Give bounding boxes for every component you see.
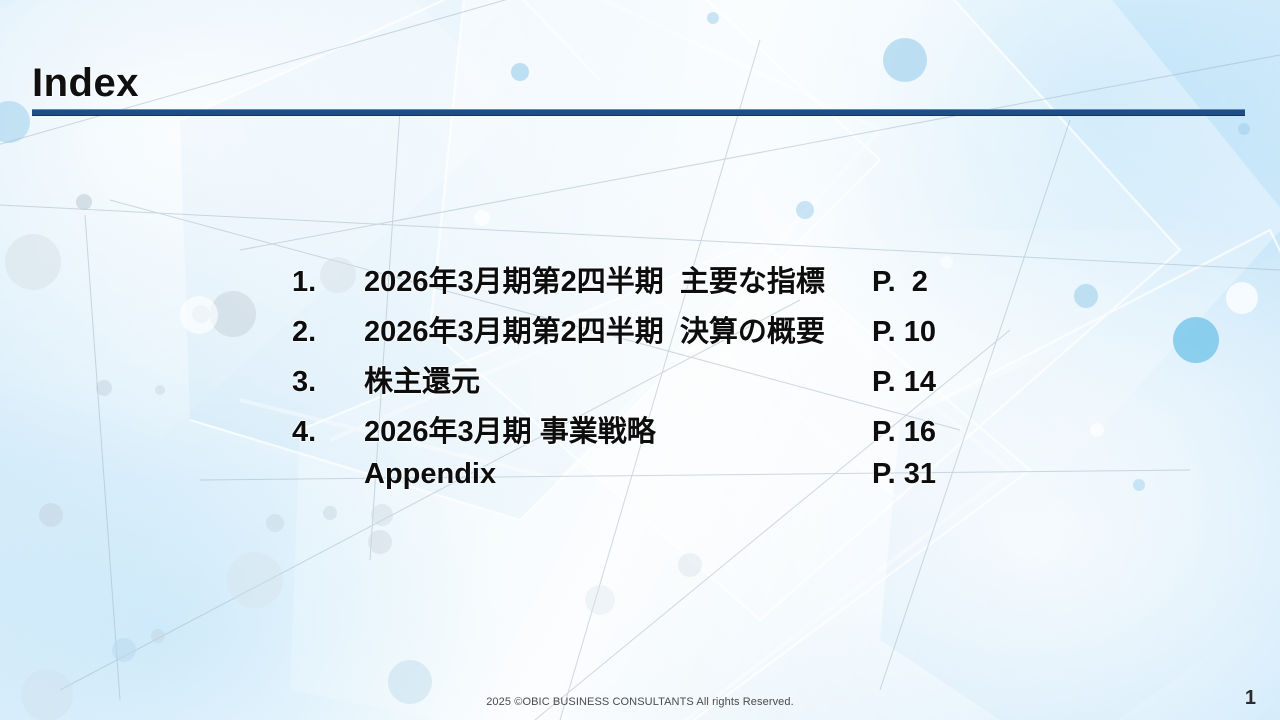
index-item-title[interactable]: 2026年3月期 事業戦略 — [364, 408, 872, 450]
index-item-title[interactable]: 2026年3月期第2四半期 決算の概要 — [364, 308, 872, 350]
footer-copyright: 2025 ©OBIC BUSINESS CONSULTANTS All righ… — [0, 696, 1280, 708]
index-item-title[interactable]: 株主還元 — [364, 358, 872, 400]
slide-index: Index 1. 2026年3月期第2四半期 主要な指標 P. 2 2. 202… — [0, 0, 1280, 720]
index-row[interactable]: 3. 株主還元 P. 14 — [292, 358, 992, 408]
index-list: 1. 2026年3月期第2四半期 主要な指標 P. 2 2. 2026年3月期第… — [292, 258, 992, 508]
title-block: Index — [32, 62, 1248, 116]
index-item-number: 1. — [292, 266, 364, 299]
slide-page-number: 1 — [1245, 687, 1256, 710]
index-item-number: 2. — [292, 316, 364, 349]
title-underline-rule — [32, 109, 1245, 116]
index-row[interactable]: 1. 2026年3月期第2四半期 主要な指標 P. 2 — [292, 258, 992, 308]
page-title: Index — [32, 62, 1248, 104]
index-item-page: P. 2 — [872, 266, 992, 299]
index-item-page: P. 16 — [872, 416, 992, 449]
index-item-number: 4. — [292, 416, 364, 449]
index-item-number: 3. — [292, 366, 364, 399]
index-row[interactable]: 4. 2026年3月期 事業戦略 P. 16 — [292, 408, 992, 458]
index-row[interactable]: 2. 2026年3月期第2四半期 決算の概要 P. 10 — [292, 308, 992, 358]
index-item-page: P. 14 — [872, 366, 992, 399]
index-item-title[interactable]: Appendix — [364, 458, 872, 491]
index-row[interactable]: Appendix P. 31 — [292, 458, 992, 508]
index-item-title[interactable]: 2026年3月期第2四半期 主要な指標 — [364, 258, 872, 300]
index-item-page: P. 31 — [872, 458, 992, 491]
index-item-page: P. 10 — [872, 316, 992, 349]
